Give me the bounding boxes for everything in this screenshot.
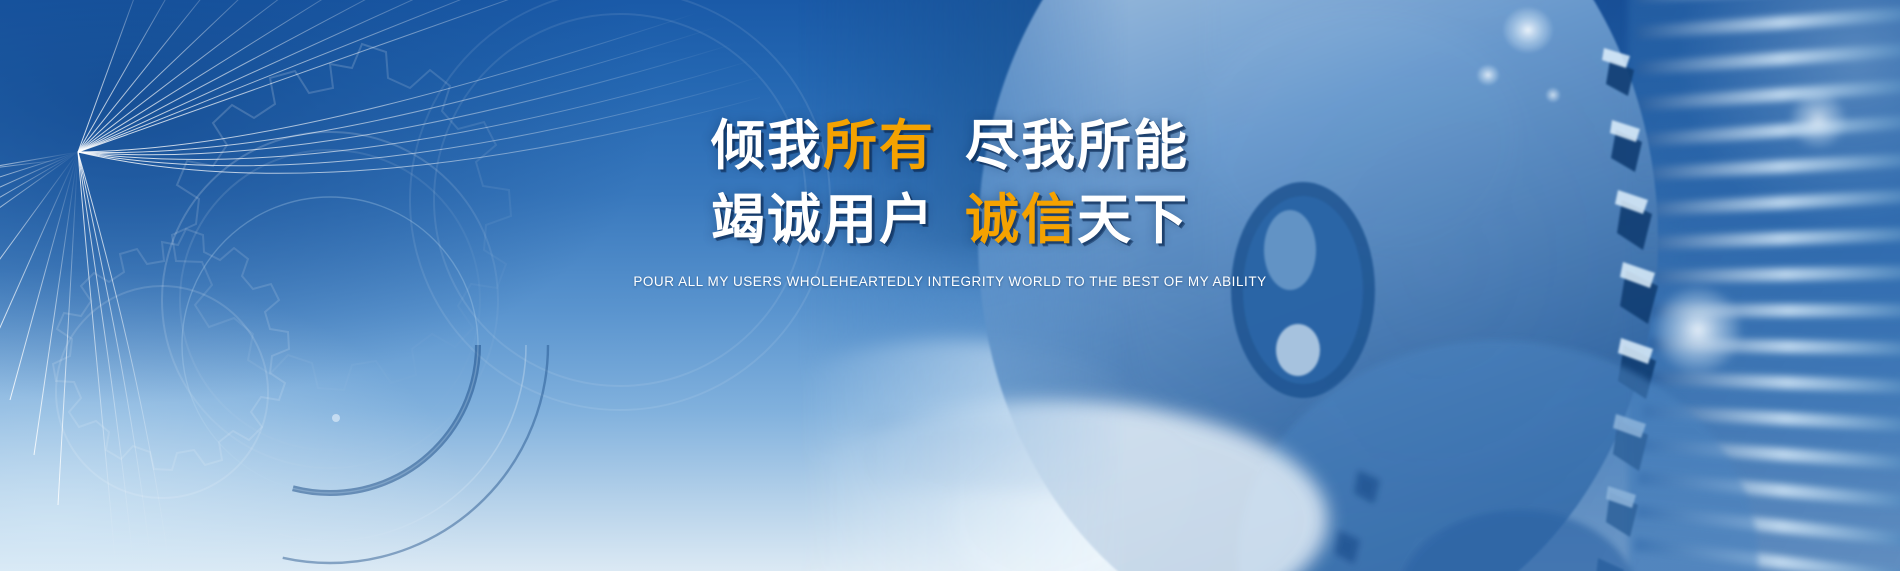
radiating-line-fan	[0, 0, 780, 571]
hero-banner: 倾我所有尽我所能 竭诚用户诚信天下 POUR ALL MY USERS WHOL…	[0, 0, 1900, 571]
decorative-vector-layer	[0, 0, 1900, 571]
ghost-gear-outline-right	[410, 0, 830, 410]
